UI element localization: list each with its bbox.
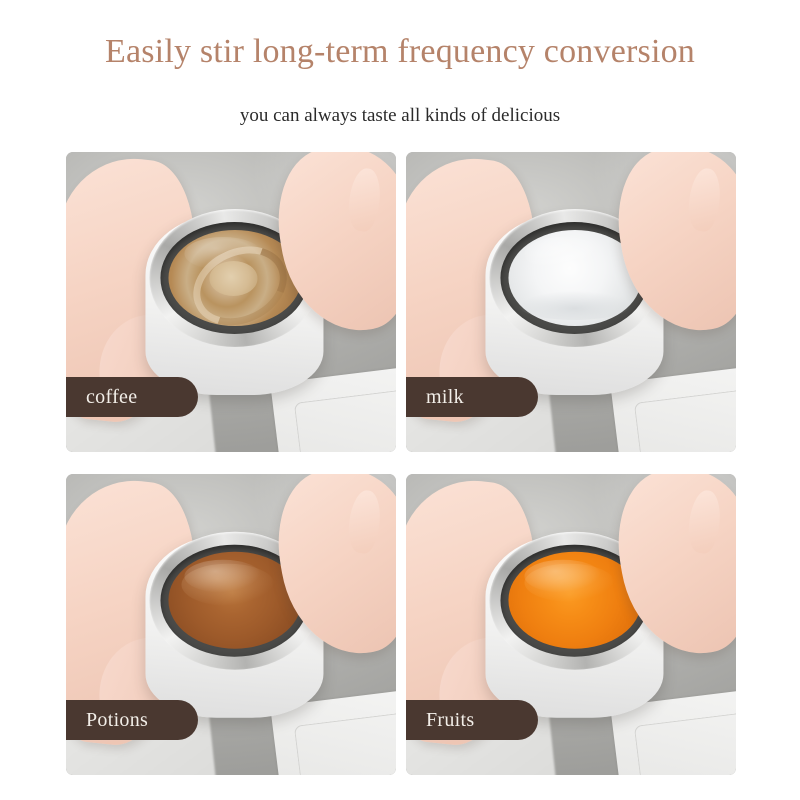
page-headline: Easily stir long-term frequency conversi…: [0, 30, 800, 74]
right-thumb: [686, 489, 723, 555]
right-thumb: [686, 167, 723, 233]
category-badge-label: coffee: [86, 387, 137, 407]
photo-panel-milk[interactable]: milk: [406, 152, 736, 452]
category-badge-label: milk: [426, 387, 464, 407]
right-thumb: [346, 167, 383, 233]
category-badge-potions[interactable]: Potions: [66, 700, 198, 740]
category-badge-label: Potions: [86, 710, 148, 730]
category-badge-milk[interactable]: milk: [406, 377, 538, 417]
photo-panel-fruits[interactable]: Fruits: [406, 474, 736, 775]
liquid-gloss: [524, 237, 601, 270]
liquid-gloss: [184, 560, 261, 593]
category-badge-coffee[interactable]: coffee: [66, 377, 198, 417]
photo-panel-potions[interactable]: Potions: [66, 474, 396, 775]
page-subheadline: you can always taste all kinds of delici…: [0, 103, 800, 129]
liquid-gloss: [524, 560, 601, 593]
photo-grid: coffee: [66, 152, 736, 775]
right-thumb: [346, 489, 383, 555]
photo-panel-coffee[interactable]: coffee: [66, 152, 396, 452]
liquid-gloss: [184, 237, 261, 270]
category-badge-fruits[interactable]: Fruits: [406, 700, 538, 740]
product-feature-page: Easily stir long-term frequency conversi…: [0, 0, 800, 800]
category-badge-label: Fruits: [426, 710, 474, 730]
